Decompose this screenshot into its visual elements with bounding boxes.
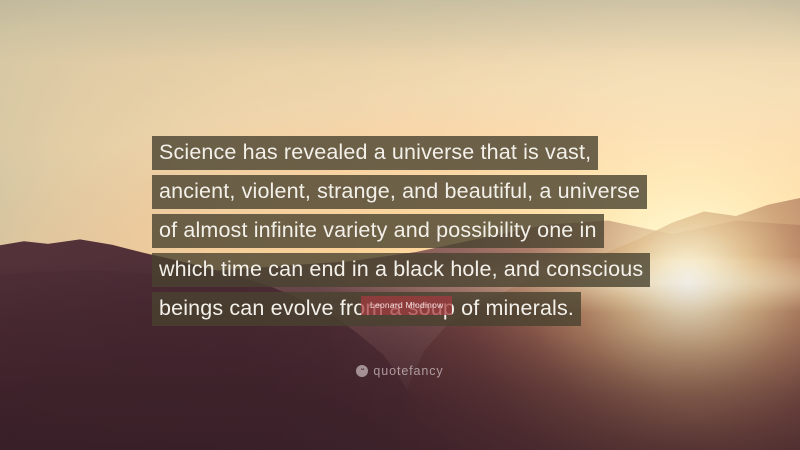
author-badge[interactable]: Leonard Mlodinow bbox=[361, 296, 452, 315]
quote-line: which time can end in a black hole, and … bbox=[152, 253, 650, 287]
quote-mark-icon: “ bbox=[356, 365, 368, 377]
quote-card: Science has revealed a universe that is … bbox=[0, 0, 800, 450]
watermark[interactable]: “ quotefancy bbox=[0, 364, 800, 378]
quote-line: of almost infinite variety and possibili… bbox=[152, 214, 604, 248]
quote-line: ancient, violent, strange, and beautiful… bbox=[152, 175, 647, 209]
watermark-brand-label: quotefancy bbox=[373, 364, 443, 378]
quote-line: Science has revealed a universe that is … bbox=[152, 136, 598, 170]
